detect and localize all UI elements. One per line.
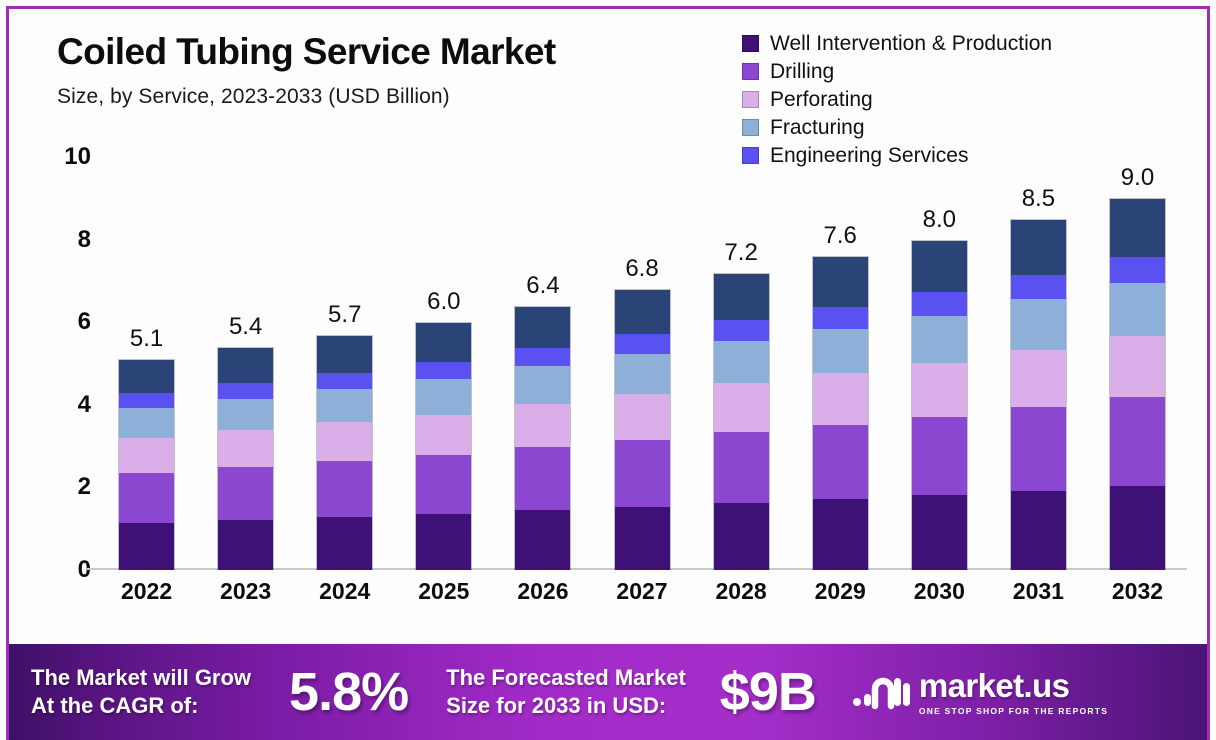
y-axis: 0246810 [51,144,91,583]
bar-segment-1[interactable] [515,447,570,510]
bar-segment-2[interactable] [1110,336,1165,397]
cagr-label: The Market will Grow At the CAGR of: [31,664,251,720]
x-axis-tick-2027: 2027 [592,578,691,605]
bar-value-label: 8.0 [923,208,956,232]
bar-segment-2[interactable] [119,438,174,473]
bar-segment-0[interactable] [317,517,372,570]
stacked-bar[interactable] [217,347,274,570]
bar-column-2026[interactable]: 6.4 [493,157,592,570]
bar-segment-2[interactable] [714,383,769,432]
forecast-label-line-1: The Forecasted Market [446,665,686,690]
legend-item-label: Well Intervention & Production [770,33,1052,54]
legend-item-0[interactable]: Well Intervention & Production [742,33,1052,54]
bar-column-2029[interactable]: 7.6 [791,157,890,570]
x-axis-tick-2024: 2024 [295,578,394,605]
bar-segment-1[interactable] [615,440,670,507]
bar-group: 5.15.45.76.06.46.87.27.68.08.59.0 [97,157,1187,570]
y-axis-tick-3: 6 [78,309,91,335]
x-axis-tick-2022: 2022 [97,578,196,605]
bar-segment-3[interactable] [515,366,570,403]
legend-item-label: Perforating [770,89,873,110]
bar-segment-0[interactable] [1011,491,1066,570]
bar-segment-0[interactable] [912,495,967,570]
legend-swatch-icon [742,63,759,80]
x-axis-tick-2025: 2025 [394,578,493,605]
cagr-value: 5.8% [289,665,408,719]
x-axis-tick-2029: 2029 [791,578,890,605]
bar-segment-4[interactable] [912,292,967,315]
x-axis-tick-2026: 2026 [493,578,592,605]
bar-segment-4[interactable] [218,383,273,399]
bar-column-2022[interactable]: 5.1 [97,157,196,570]
stacked-bar[interactable] [415,322,472,570]
bar-segment-1[interactable] [813,425,868,500]
bar-segment-0[interactable] [218,520,273,570]
bar-column-2030[interactable]: 8.0 [890,157,989,570]
bar-value-label: 6.4 [526,274,559,298]
bar-segment-5[interactable] [615,290,670,334]
stacked-bar[interactable] [812,256,869,570]
bar-segment-3[interactable] [912,316,967,363]
stacked-bar[interactable] [316,335,373,570]
bar-segment-0[interactable] [615,507,670,570]
bar-segment-5[interactable] [714,274,769,320]
bar-segment-2[interactable] [317,422,372,461]
chart-subtitle: Size, by Service, 2023-2033 (USD Billion… [57,85,556,109]
bar-segment-5[interactable] [912,241,967,292]
bar-segment-2[interactable] [1011,350,1066,408]
logo-tagline: ONE STOP SHOP FOR THE REPORTS [919,706,1108,716]
bar-segment-1[interactable] [119,473,174,523]
bar-segment-1[interactable] [218,467,273,520]
y-axis-tick-0: 0 [78,557,91,583]
bar-column-2027[interactable]: 6.8 [592,157,691,570]
bar-segment-2[interactable] [615,394,670,440]
bar-segment-3[interactable] [119,408,174,438]
bar-segment-5[interactable] [1011,220,1066,275]
bar-segment-3[interactable] [615,354,670,394]
bar-segment-1[interactable] [1011,407,1066,491]
x-axis-tick-2032: 2032 [1088,578,1187,605]
bar-column-2025[interactable]: 6.0 [394,157,493,570]
bar-segment-1[interactable] [714,432,769,503]
y-axis-tick-1: 2 [78,474,91,500]
bar-value-label: 7.6 [824,224,857,248]
chart-header: Coiled Tubing Service Market Size, by Se… [57,31,556,109]
cagr-label-line-2: At the CAGR of: [31,693,198,718]
forecast-size-value: $9B [720,665,816,719]
stacked-bar[interactable] [514,306,571,570]
bar-segment-3[interactable] [714,341,769,383]
market-us-logomark-icon [852,672,910,712]
legend-item-2[interactable]: Perforating [742,89,1052,110]
cagr-label-line-1: The Market will Grow [31,665,251,690]
x-axis-tick-2028: 2028 [692,578,791,605]
infographic-frame: Coiled Tubing Service Market Size, by Se… [6,6,1210,740]
stacked-bar[interactable] [614,289,671,570]
bar-value-label: 6.8 [625,257,658,281]
bar-segment-4[interactable] [714,320,769,341]
legend-item-label: Drilling [770,61,834,82]
bar-segment-3[interactable] [1011,299,1066,349]
bar-value-label: 8.5 [1022,187,1055,211]
infographic-root: Coiled Tubing Service Market Size, by Se… [0,0,1216,740]
bar-column-2024[interactable]: 5.7 [295,157,394,570]
bar-segment-3[interactable] [416,379,471,414]
stacked-bar[interactable] [1109,198,1166,570]
stacked-bar[interactable] [118,359,175,570]
bar-segment-2[interactable] [416,415,471,456]
bar-segment-4[interactable] [416,362,471,379]
y-axis-tick-2: 4 [78,392,91,418]
bottom-banner: The Market will Grow At the CAGR of: 5.8… [9,644,1207,740]
bar-segment-5[interactable] [317,336,372,373]
x-axis-tick-2031: 2031 [989,578,1088,605]
bar-segment-1[interactable] [317,461,372,517]
bar-segment-4[interactable] [1011,275,1066,300]
stacked-bar[interactable] [1010,219,1067,570]
bar-segment-0[interactable] [416,514,471,570]
bar-column-2031[interactable]: 8.5 [989,157,1088,570]
bar-segment-3[interactable] [1110,283,1165,336]
bar-segment-0[interactable] [1110,486,1165,570]
market-us-wordmark: market.us ONE STOP SHOP FOR THE REPORTS [919,669,1108,716]
bar-value-label: 7.2 [724,241,757,265]
bar-segment-4[interactable] [515,348,570,367]
legend-swatch-icon [742,35,759,52]
bar-segment-1[interactable] [1110,397,1165,486]
legend-item-label: Fracturing [770,117,865,138]
bar-column-2023[interactable]: 5.4 [196,157,295,570]
forecast-label-line-2: Size for 2033 in USD: [446,693,666,718]
logo-word: market.us [919,669,1108,702]
legend-item-1[interactable]: Drilling [742,61,1052,82]
bar-value-label: 9.0 [1121,166,1154,190]
bar-column-2028[interactable]: 7.2 [692,157,791,570]
bar-value-label: 6.0 [427,290,460,314]
bar-segment-1[interactable] [912,417,967,496]
stacked-bar[interactable] [713,273,770,570]
bar-segment-3[interactable] [813,329,868,373]
bar-value-label: 5.4 [229,315,262,339]
page-title: Coiled Tubing Service Market [57,31,556,73]
x-axis: 2022202320242025202620272028202920302031… [97,578,1187,605]
bar-segment-3[interactable] [317,389,372,422]
y-axis-tick-5: 10 [64,144,91,170]
legend-swatch-icon [742,91,759,108]
bar-segment-5[interactable] [218,348,273,383]
chart-legend: Well Intervention & ProductionDrillingPe… [742,33,1052,166]
bar-segment-4[interactable] [317,373,372,389]
bar-segment-0[interactable] [714,503,769,570]
bar-segment-5[interactable] [119,360,174,393]
bar-value-label: 5.1 [130,327,163,351]
bar-segment-3[interactable] [218,399,273,431]
bar-segment-5[interactable] [1110,199,1165,256]
forecast-size-label: The Forecasted Market Size for 2033 in U… [446,664,686,720]
bar-segment-4[interactable] [1110,257,1165,283]
bar-segment-2[interactable] [912,363,967,417]
plot-area: 0246810 5.15.45.76.06.46.87.27.68.08.59.… [97,157,1187,570]
bar-segment-4[interactable] [615,334,670,354]
bar-value-label: 5.7 [328,303,361,327]
bar-segment-5[interactable] [813,257,868,306]
bar-segment-2[interactable] [218,430,273,467]
bar-segment-0[interactable] [119,523,174,570]
stacked-bar[interactable] [911,240,968,570]
x-axis-tick-2030: 2030 [890,578,989,605]
legend-item-3[interactable]: Fracturing [742,117,1052,138]
bar-segment-4[interactable] [119,393,174,408]
bar-segment-0[interactable] [813,499,868,570]
bar-segment-4[interactable] [813,307,868,329]
bar-segment-5[interactable] [416,323,471,362]
bar-column-2032[interactable]: 9.0 [1088,157,1187,570]
bar-segment-1[interactable] [416,455,471,514]
legend-swatch-icon [742,119,759,136]
bar-segment-0[interactable] [515,510,570,570]
y-axis-tick-4: 8 [78,227,91,253]
bar-segment-5[interactable] [515,307,570,348]
bar-segment-2[interactable] [813,373,868,424]
bar-segment-2[interactable] [515,404,570,448]
market-us-logo[interactable]: market.us ONE STOP SHOP FOR THE REPORTS [852,669,1108,716]
x-axis-tick-2023: 2023 [196,578,295,605]
